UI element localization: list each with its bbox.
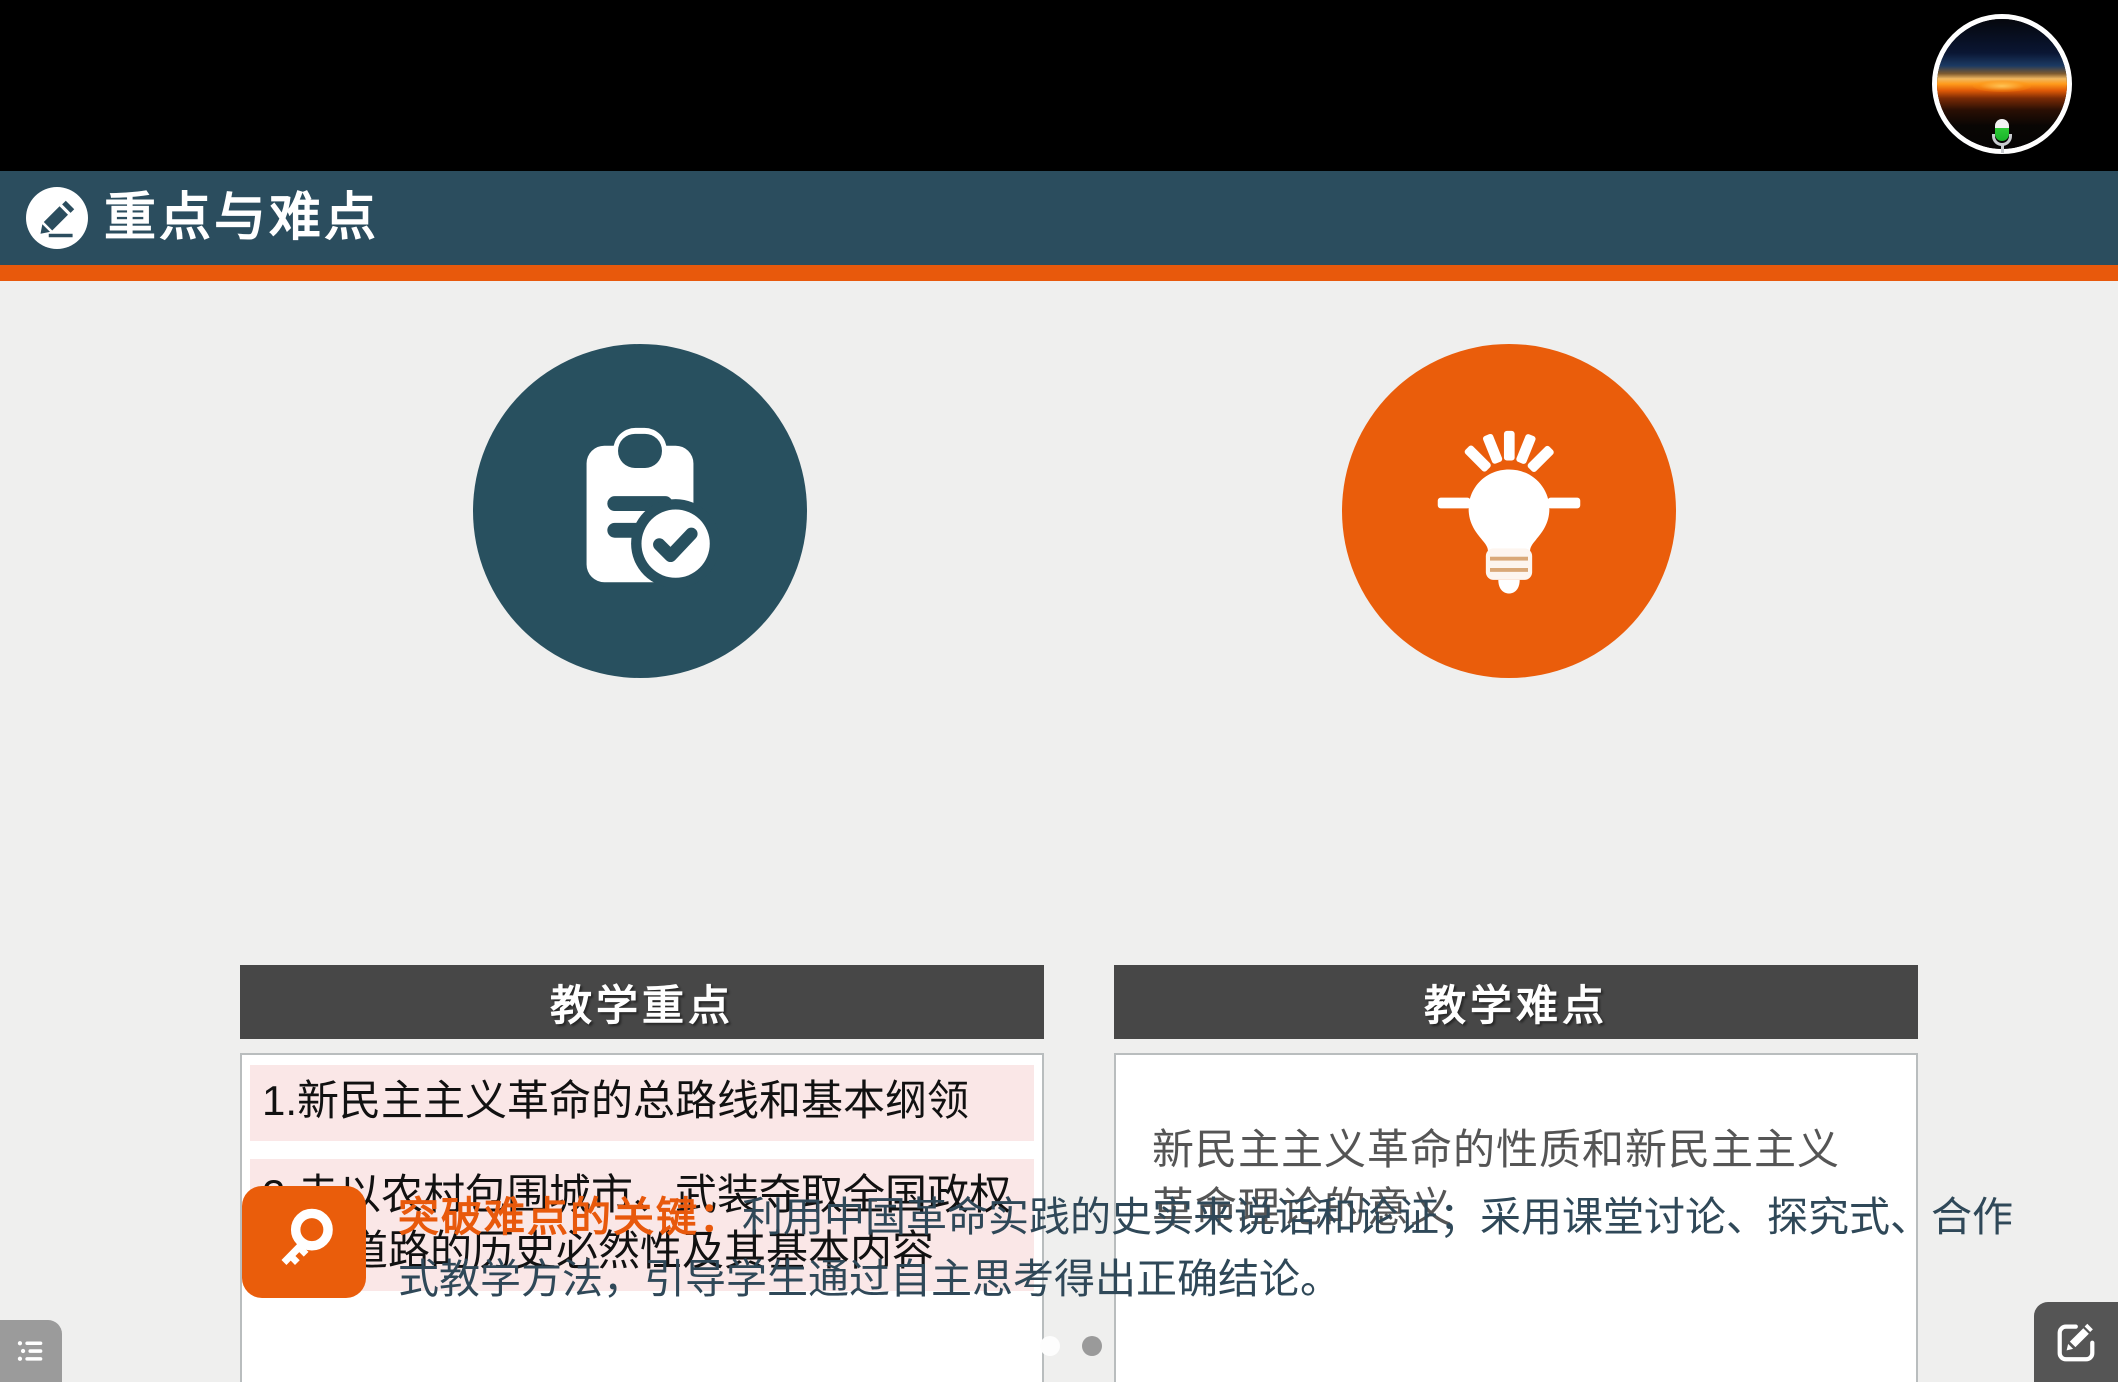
pagination-dot-2[interactable] [1082,1336,1102,1356]
list-item: 1.新民主主义革命的总路线和基本纲领 [250,1065,1034,1141]
card-title-right: 教学难点 [1114,965,1918,1039]
microphone-icon[interactable] [1992,119,2012,153]
outline-list-button[interactable] [0,1320,62,1382]
key-icon [242,1186,366,1298]
pagination-dot-1[interactable] [1040,1336,1060,1356]
avatar-sun-glow [1973,80,2030,92]
focus-item-1: 1.新民主主义革命的总路线和基本纲领 [262,1073,1022,1129]
mic-stem [2001,144,2004,153]
card-teaching-focus: 教学重点 1.新民主主义革命的总路线和基本纲领 2.走以农村包围城市、武装夺取全… [240,965,1044,1382]
avatar[interactable] [1932,14,2072,154]
card-teaching-difficulty: 教学难点 新民主主义革命的性质和新民主主义革命理论的意义 [1114,965,1918,1382]
key-note-text: 突破难点的关键：利用中国革命实践的史实来说话和论证；采用课堂讨论、探究式、合作式… [398,1186,2022,1310]
clipboard-check-icon [473,344,807,678]
annotate-button[interactable] [2034,1302,2118,1382]
page-title: 重点与难点 [104,182,379,254]
slide-header: 重点与难点 [0,171,2118,265]
screen-share-slide: 石建鹏的屏幕共享 重点与难点 [0,0,2118,1382]
card-title-left: 教学重点 [240,965,1044,1039]
outline-list-icon [14,1334,48,1368]
header-accent-stripe [0,265,2118,281]
pencil-icon [26,187,88,249]
pagination-dots[interactable] [1040,1336,1102,1356]
key-note: 突破难点的关键：利用中国革命实践的史实来说话和论证；采用课堂讨论、探究式、合作式… [242,1186,2022,1310]
annotate-pencil-icon [2053,1319,2099,1365]
key-note-lead: 突破难点的关键： [398,1194,742,1240]
lightbulb-icon [1342,344,1676,678]
meeting-topbar [0,0,2118,171]
